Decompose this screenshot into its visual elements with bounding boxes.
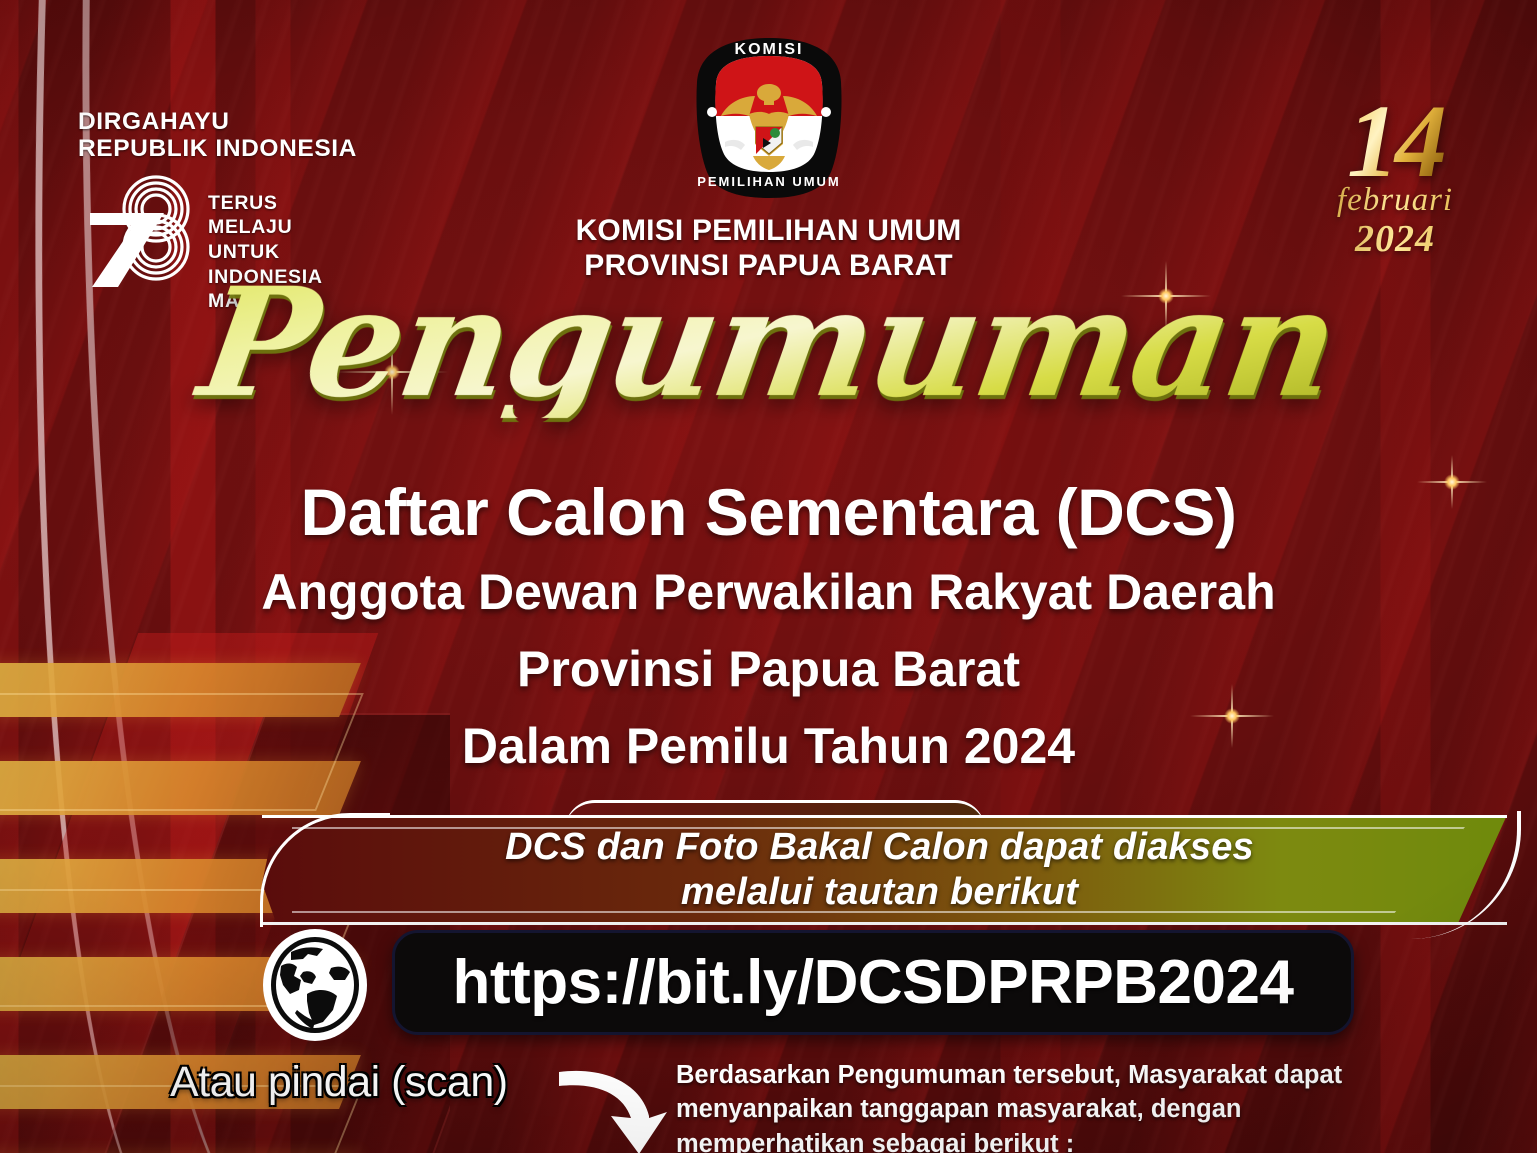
vignette-overlay — [0, 0, 1537, 1153]
globe-icon — [261, 928, 369, 1042]
poster-canvas: DIRGAHAYU REPUBLIK INDONESIA TERUS MELAJ… — [0, 0, 1537, 1153]
